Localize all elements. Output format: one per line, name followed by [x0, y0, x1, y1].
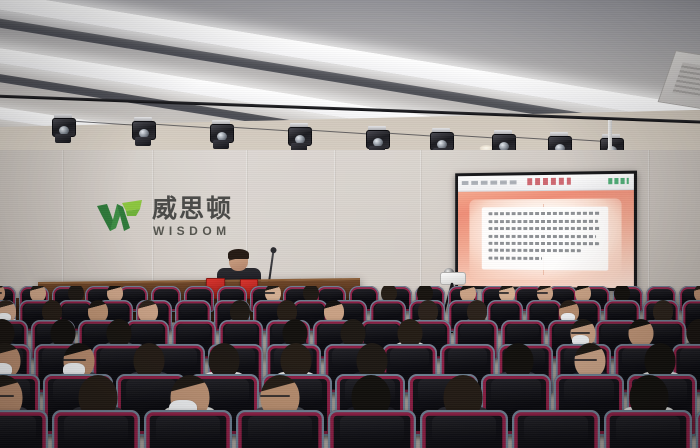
eyeglasses: [497, 292, 509, 294]
slide-text-line: [488, 235, 596, 238]
auditorium-seat: [696, 410, 700, 448]
slide-textbox: [482, 207, 609, 270]
presenter-hair: [228, 249, 249, 259]
logo-chinese-text: 威思顿: [152, 196, 233, 222]
moving-head-stage-light: [210, 120, 232, 150]
audience-seating: [0, 286, 700, 448]
light-base: [135, 137, 151, 146]
auditorium-seat: [52, 410, 140, 448]
auditorium-seat: [420, 410, 508, 448]
screen-display-area: [458, 174, 634, 289]
eyeglasses: [573, 359, 597, 361]
moving-head-stage-light: [52, 114, 74, 144]
audience-head: [280, 343, 311, 378]
eyeglasses: [62, 359, 86, 361]
slide-text-line: [488, 256, 541, 259]
auditorium-seat: [236, 410, 324, 448]
eyeglasses: [0, 395, 14, 397]
audience-head: [645, 343, 676, 378]
company-logo: 威思顿 WISDOM: [96, 196, 246, 246]
slide-text-line: [488, 212, 601, 215]
eyeglasses: [263, 292, 275, 294]
eyeglasses: [571, 332, 590, 334]
auditorium-seat: [0, 410, 48, 448]
wisdom-w-mark-icon: [96, 198, 144, 232]
slide-body: [458, 190, 634, 288]
slide-toolbar-menu-text: [462, 180, 518, 185]
slide-text-line: [488, 249, 580, 252]
light-base: [213, 140, 229, 149]
projection-screen: [455, 171, 637, 292]
logo-english-text: WISDOM: [153, 224, 231, 238]
audience-head: [134, 343, 165, 378]
auditorium-seat: [328, 410, 416, 448]
audience-head: [209, 343, 240, 378]
auditorium-seat: [604, 410, 692, 448]
eyeglasses: [536, 292, 548, 294]
slide-corner-logo-icon: [608, 178, 629, 184]
conference-hall-photo: AIR INLET 威思顿 WISDOM: [0, 0, 700, 448]
slide-toolbar: [458, 174, 634, 192]
moving-head-stage-light: [132, 117, 154, 147]
projector-mount-pole: [608, 120, 612, 154]
audience-head: [502, 343, 533, 378]
moving-head-stage-light: [288, 123, 310, 153]
eyeglasses: [260, 395, 290, 397]
slide-title-text: [527, 178, 571, 186]
slide-text-line: [488, 227, 600, 230]
light-base: [55, 134, 71, 143]
slide-text-line: [488, 220, 597, 223]
auditorium-seat: [144, 410, 232, 448]
auditorium-seat: [512, 410, 600, 448]
audience-head: [356, 343, 387, 378]
slide-text-line: [488, 242, 598, 245]
